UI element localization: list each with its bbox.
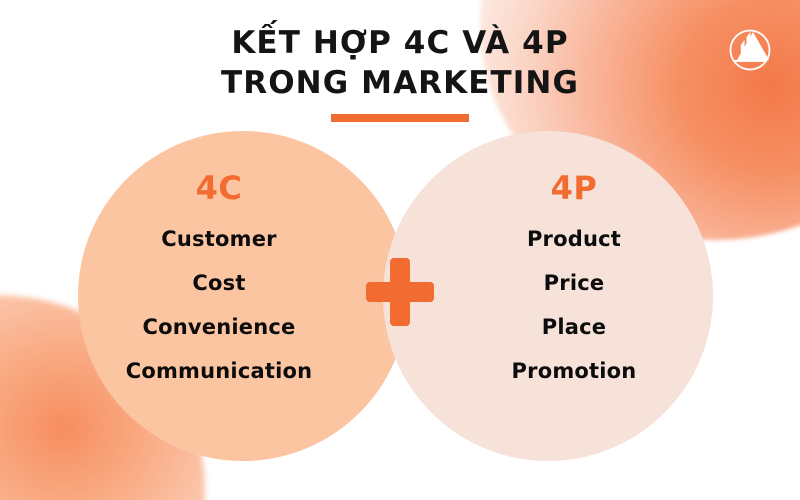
venn-circle-4c: 4C Customer Cost Convenience Communicati…	[78, 131, 408, 461]
title-underline-accent	[331, 114, 469, 122]
page-title-line-2: TRONG MARKETING	[0, 64, 800, 104]
page-title-line-1: KẾT HỢP 4C VÀ 4P	[0, 24, 800, 64]
list-item: Price	[512, 271, 637, 295]
list-item: Communication	[126, 359, 313, 383]
plus-icon	[366, 258, 434, 326]
list-item: Convenience	[126, 315, 313, 339]
list-item: Product	[512, 227, 637, 251]
list-item: Cost	[126, 271, 313, 295]
plus-icon-vertical-bar	[390, 258, 410, 326]
slide-canvas: KẾT HỢP 4C VÀ 4P TRONG MARKETING 4C Cust…	[0, 0, 800, 500]
page-title: KẾT HỢP 4C VÀ 4P TRONG MARKETING	[0, 24, 800, 122]
venn-circle-4p-heading: 4P	[551, 169, 598, 207]
list-item: Customer	[126, 227, 313, 251]
list-item: Promotion	[512, 359, 637, 383]
venn-circle-4c-heading: 4C	[196, 169, 243, 207]
venn-circle-4p-list: Product Price Place Promotion	[512, 207, 637, 383]
venn-circle-4c-list: Customer Cost Convenience Communication	[126, 207, 313, 383]
list-item: Place	[512, 315, 637, 339]
